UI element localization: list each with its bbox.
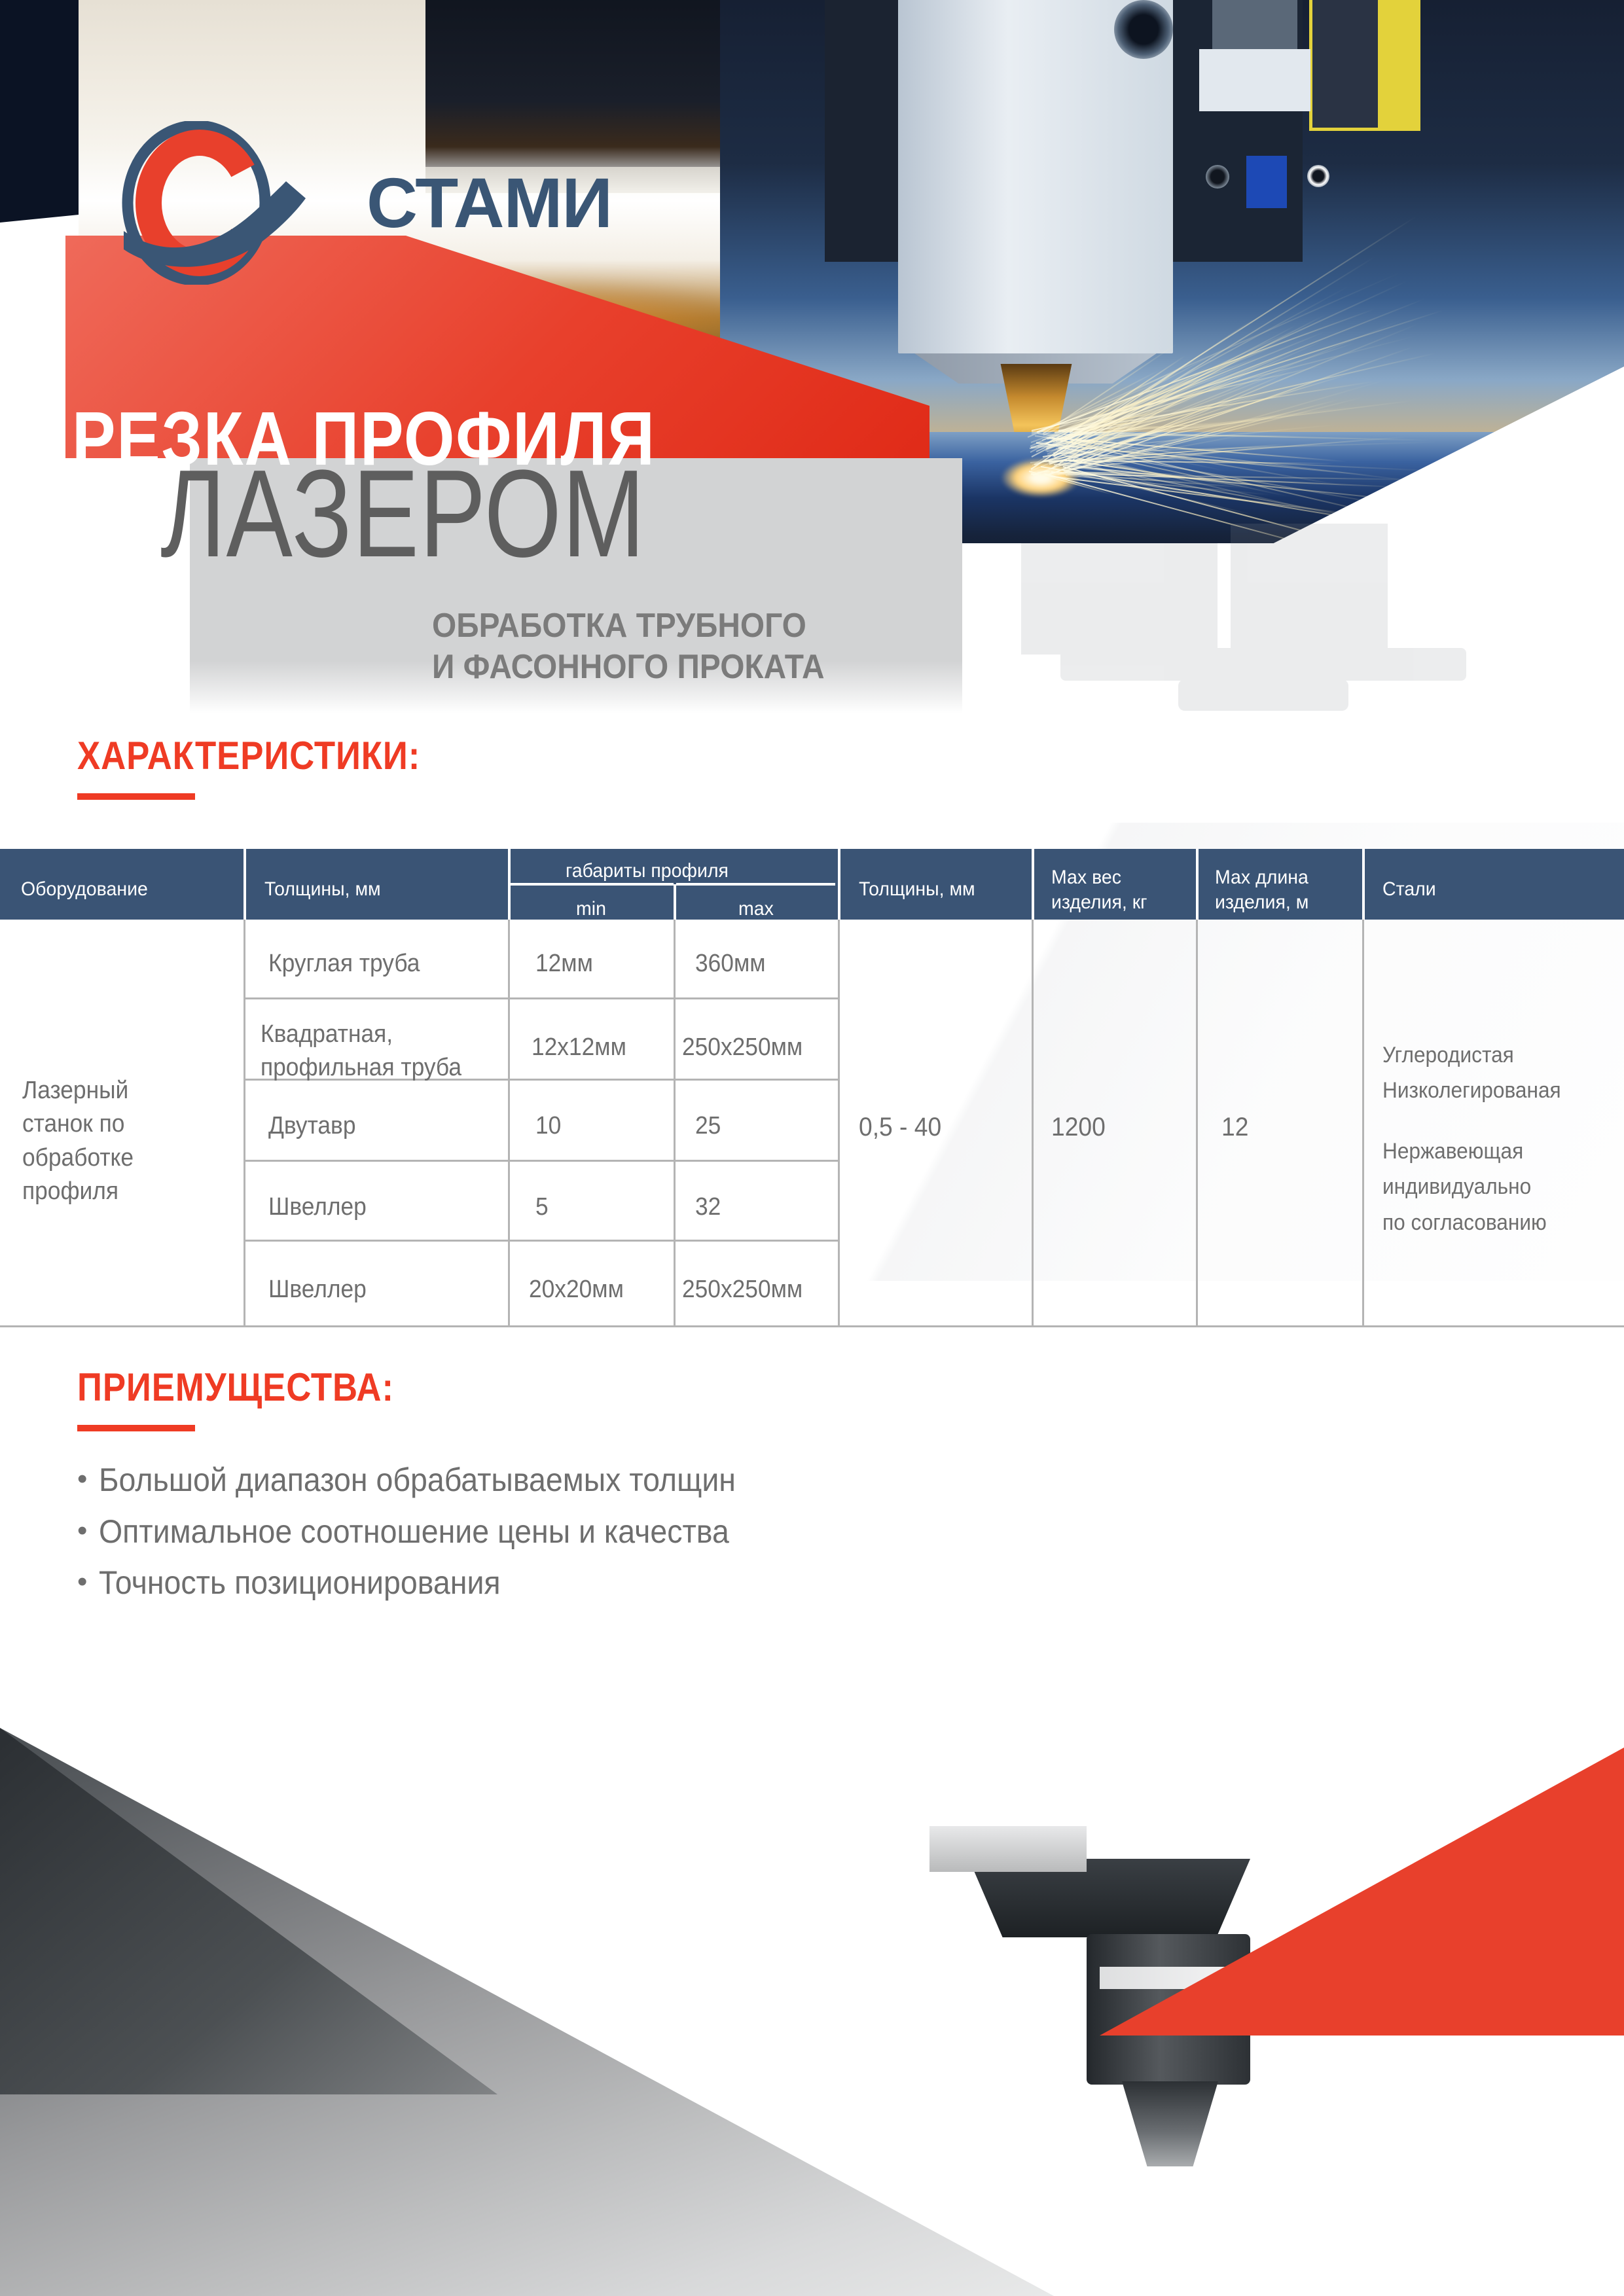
cell-min: 5 — [535, 1191, 549, 1224]
cell-min: 20х20мм — [529, 1273, 624, 1306]
header-subtitle-line2: И ФАСОННОГО ПРОКАТА — [432, 647, 825, 688]
th-max-weight-l2: изделия, кг — [1051, 889, 1147, 915]
footer-banner — [0, 1636, 1624, 2296]
header-subtitle-line1: ОБРАБОТКА ТРУБНОГО — [432, 605, 825, 647]
table-header-row: Оборудование Толщины, мм габариты профил… — [0, 849, 1624, 920]
table-row: Круглая труба — [268, 947, 420, 980]
th-max: max — [738, 896, 774, 922]
equipment-line-2: обработке — [22, 1141, 134, 1175]
cell-min: 12мм — [535, 947, 593, 980]
cell-profile-line-0: Квадратная, — [261, 1018, 461, 1051]
characteristics-rule — [77, 793, 195, 800]
list-item: • Оптимальное соотношение цены и качеств… — [77, 1511, 1125, 1552]
table-row: Двутавр — [268, 1109, 355, 1143]
steels-line-4: по согласованию — [1382, 1205, 1561, 1240]
advantage-text: Точность позиционирования — [99, 1562, 501, 1604]
th-max-length-l1: Мах длина — [1215, 865, 1308, 890]
cell-max-length: 12 — [1221, 1109, 1248, 1145]
th-steels: Стали — [1382, 876, 1436, 902]
brand-name: СТАМИ — [367, 162, 612, 243]
advantages-heading: ПРИЕМУЩЕСТВА: — [77, 1365, 394, 1410]
advantages-rule — [77, 1425, 195, 1431]
bullet-icon: • — [77, 1516, 87, 1545]
steels-line-1: Низколегированая — [1382, 1073, 1561, 1108]
steels-line-3: индивидуально — [1382, 1169, 1561, 1204]
stami-swoosh-icon — [115, 121, 350, 285]
brand-logo: СТАМИ — [115, 121, 520, 285]
th-max-weight-l1: Мах вес — [1051, 865, 1121, 890]
cell-max: 250х250мм — [682, 1273, 803, 1306]
cell-max: 25 — [695, 1109, 721, 1143]
th-min: min — [576, 896, 606, 922]
table-row: Швеллер — [268, 1273, 367, 1306]
advantage-text: Оптимальное соотношение цены и качества — [99, 1511, 729, 1552]
steels-line-2: Нержавеющая — [1382, 1134, 1561, 1169]
equipment-line-1: станок по — [22, 1107, 134, 1141]
cell-min: 10 — [535, 1109, 561, 1143]
table-row: Швеллер — [268, 1191, 367, 1224]
list-item: • Точность позиционирования — [77, 1562, 1125, 1604]
table-row: Квадратная, профильная труба — [261, 1018, 461, 1085]
bullet-icon: • — [77, 1465, 87, 1494]
header-banner: ЛАЗЕРОМ РЕЗКА ПРОФИЛЯ ОБРАБОТКА ТРУБНОГО… — [0, 0, 1624, 713]
cell-profile-line-1: профильная труба — [261, 1051, 461, 1085]
equipment-line-0: Лазерный — [22, 1074, 134, 1107]
list-item: • Большой диапазон обрабатываемых толщин — [77, 1460, 1125, 1501]
advantages-list: • Большой диапазон обрабатываемых толщин… — [77, 1460, 1125, 1614]
header-subtitle: ОБРАБОТКА ТРУБНОГО И ФАСОННОГО ПРОКАТА — [432, 605, 825, 689]
advantage-text: Большой диапазон обрабатываемых толщин — [99, 1460, 736, 1501]
th-max-length-l2: изделия, м — [1215, 889, 1308, 915]
th-thickness-sheet: Толщины, мм — [859, 876, 975, 902]
header-ghost-machine — [982, 517, 1571, 713]
characteristics-heading: ХАРАКТЕРИСТИКИ: — [77, 733, 420, 778]
cell-equipment: Лазерный станок по обработке профиля — [22, 1074, 134, 1208]
cell-max-weight: 1200 — [1051, 1109, 1106, 1145]
th-thickness-profile: Толщины, мм — [264, 876, 381, 902]
th-profile-dims: габариты профиля — [566, 858, 729, 884]
cell-min: 12х12мм — [532, 1031, 626, 1064]
steels-line-0: Углеродистая — [1382, 1037, 1561, 1073]
cell-max: 32 — [695, 1191, 721, 1224]
table-body: Лазерный станок по обработке профиля Кру… — [0, 920, 1624, 1327]
bullet-icon: • — [77, 1568, 87, 1596]
cell-max: 360мм — [695, 947, 766, 980]
cell-thickness-sheet: 0,5 - 40 — [859, 1109, 941, 1145]
cell-max: 250х250мм — [682, 1031, 803, 1064]
th-equipment: Оборудование — [21, 876, 148, 902]
equipment-line-3: профиля — [22, 1175, 134, 1208]
title-profile-cutting: РЕЗКА ПРОФИЛЯ — [72, 401, 860, 476]
cell-steels: Углеродистая Низколегированая Нержавеюща… — [1382, 1037, 1561, 1240]
